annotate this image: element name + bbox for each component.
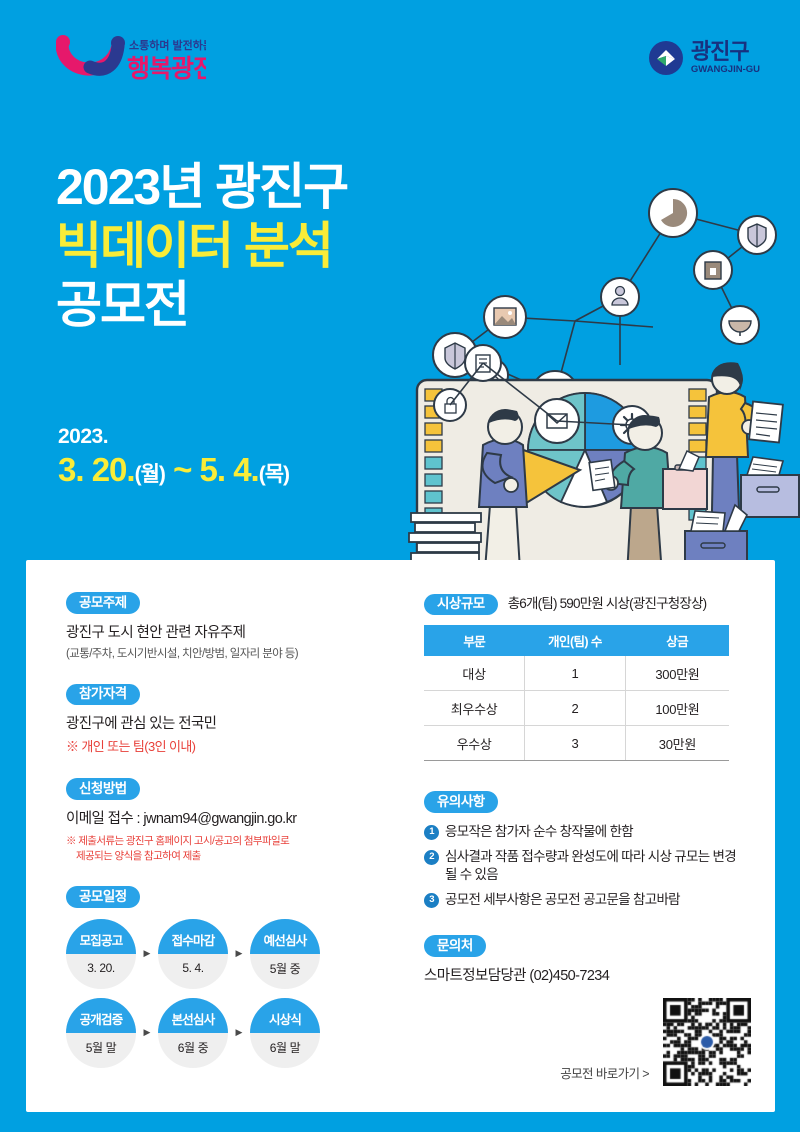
section-apply: 신청방법 이메일 접수 : jwnam94@gwangjin.go.kr ※ 제… bbox=[66, 778, 396, 864]
gwangjin-kr-label: 광진구 bbox=[691, 41, 760, 63]
list-item: 1 응모작은 참가자 순수 창작물에 한함 bbox=[424, 823, 744, 841]
schedule-grid: 모집공고 3. 20. ▶ 접수마감 5. 4. ▶ 예선심사 5월 중 bbox=[66, 919, 396, 1068]
topic-sub: (교통/주차, 도시기반시설, 치안/방범, 일자리 분야 등) bbox=[66, 646, 396, 662]
node-pie-chart-icon bbox=[649, 189, 697, 237]
section-eligibility: 참가자격 광진구에 관심 있는 전국민 ※ 개인 또는 팀(3인 이내) bbox=[66, 684, 396, 757]
poster-title: 2023년 광진구 빅데이터 분석 공모전 bbox=[56, 158, 347, 335]
table-row: 우수상 3 30만원 bbox=[424, 726, 729, 761]
eligibility-badge: 참가자격 bbox=[66, 684, 140, 706]
schedule-step-2-name: 접수마감 bbox=[158, 919, 228, 954]
note-text-1: 응모작은 참가자 순수 창작물에 한함 bbox=[445, 823, 633, 841]
schedule-step-1-when: 3. 20. bbox=[66, 954, 136, 989]
note-number-icon-1: 1 bbox=[424, 825, 439, 840]
title-line-1: 2023년 광진구 bbox=[56, 158, 347, 217]
apply-note-2: 제공되는 양식을 참고하여 제출 bbox=[66, 849, 396, 864]
schedule-step-5-name: 본선심사 bbox=[158, 998, 228, 1033]
poster-header: 소통하며 발전하는 행복광진 광진구 GWANGJIN-GU bbox=[0, 0, 800, 112]
date-tilde: ~ bbox=[173, 451, 191, 488]
schedule-row-2: 공개검증 5월 말 ▶ 본선심사 6월 중 ▶ 시상식 6월 말 bbox=[66, 998, 396, 1068]
table-row: 최우수상 2 100만원 bbox=[424, 691, 729, 726]
schedule-step-1: 모집공고 3. 20. bbox=[66, 919, 136, 989]
prize-row-2-category: 최우수상 bbox=[424, 691, 525, 726]
schedule-step-3-name: 예선심사 bbox=[250, 919, 320, 954]
prize-row-2-count: 2 bbox=[525, 691, 626, 726]
schedule-row-1: 모집공고 3. 20. ▶ 접수마감 5. 4. ▶ 예선심사 5월 중 bbox=[66, 919, 396, 989]
prize-row-3-amount: 30만원 bbox=[625, 726, 729, 761]
prize-summary: 총6개(팀) 590만원 시상(광진구청장상) bbox=[508, 592, 707, 612]
schedule-step-5: 본선심사 6월 중 bbox=[158, 998, 228, 1068]
date-year: 2023. bbox=[58, 425, 289, 449]
prize-badge: 시상규모 bbox=[424, 594, 498, 616]
prize-table: 부문 개인(팀) 수 상금 대상 1 300만원 최우수상 2 100만원 bbox=[424, 625, 729, 761]
schedule-step-5-when: 6월 중 bbox=[158, 1033, 228, 1068]
qr-label: 공모전 바로가기 > bbox=[560, 1063, 649, 1086]
gwangjin-en-label: GWANGJIN-GU bbox=[691, 65, 760, 75]
node-cctv-icon bbox=[721, 306, 759, 344]
prize-row-1-count: 1 bbox=[525, 656, 626, 691]
schedule-arrow-icon-2: ▶ bbox=[228, 948, 250, 959]
poster-dates: 2023. 3. 20.(월) ~ 5. 4.(목) bbox=[58, 425, 289, 489]
date-range: 3. 20.(월) ~ 5. 4.(목) bbox=[58, 451, 289, 489]
prize-row-1-amount: 300만원 bbox=[625, 656, 729, 691]
schedule-step-2: 접수마감 5. 4. bbox=[158, 919, 228, 989]
brand-tagline: 소통하며 발전하는 bbox=[129, 38, 206, 52]
schedule-step-3: 예선심사 5월 중 bbox=[250, 919, 320, 989]
qr-code-image[interactable] bbox=[663, 998, 751, 1086]
eligibility-line: 광진구에 관심 있는 전국민 bbox=[66, 714, 396, 735]
storage-box-top bbox=[741, 457, 799, 517]
panel-right-column: 시상규모 총6개(팀) 590만원 시상(광진구청장상) 부문 개인(팀) 수 … bbox=[424, 592, 744, 1009]
schedule-badge: 공모일정 bbox=[66, 886, 140, 908]
schedule-step-6-when: 6월 말 bbox=[250, 1033, 320, 1068]
date-end: 5. 4. bbox=[200, 451, 259, 488]
gwangjin-gu-logo: 광진구 GWANGJIN-GU bbox=[649, 38, 760, 78]
note-number-icon-2: 2 bbox=[424, 850, 439, 865]
note-text-2: 심사결과 작품 접수량과 완성도에 따라 시상 규모는 변경될 수 있음 bbox=[445, 848, 744, 884]
apply-line: 이메일 접수 : jwnam94@gwangjin.go.kr bbox=[66, 809, 396, 830]
panel-left-column: 공모주제 광진구 도시 현안 관련 자유주제 (교통/주차, 도시기반시설, 치… bbox=[66, 592, 396, 1090]
info-panel: 공모주제 광진구 도시 현안 관련 자유주제 (교통/주차, 도시기반시설, 치… bbox=[26, 560, 775, 1112]
happy-gwangjin-logo: 소통하며 발전하는 행복광진 bbox=[56, 30, 206, 88]
schedule-arrow-icon-3: ▶ bbox=[136, 1027, 158, 1038]
section-contact: 문의처 스마트정보담당관 (02)450-7234 bbox=[424, 935, 744, 987]
notes-list: 1 응모작은 참가자 순수 창작물에 한함 2 심사결과 작품 접수량과 완성도… bbox=[424, 823, 744, 910]
eligibility-note: ※ 개인 또는 팀(3인 이내) bbox=[66, 738, 396, 756]
node-shield-icon-top bbox=[738, 216, 776, 254]
node-secure-file-icon bbox=[694, 251, 732, 289]
title-line-2: 빅데이터 분석 bbox=[56, 217, 347, 276]
schedule-step-4: 공개검증 5월 말 bbox=[66, 998, 136, 1068]
note-number-icon-3: 3 bbox=[424, 893, 439, 908]
schedule-step-1-name: 모집공고 bbox=[66, 919, 136, 954]
schedule-arrow-icon-1: ▶ bbox=[136, 948, 158, 959]
prize-row-2-amount: 100만원 bbox=[625, 691, 729, 726]
topic-line: 광진구 도시 현안 관련 자유주제 bbox=[66, 623, 396, 644]
book-stack bbox=[409, 513, 481, 562]
date-start: 3. 20. bbox=[58, 451, 135, 488]
schedule-arrow-icon-4: ▶ bbox=[228, 1027, 250, 1038]
prize-table-header-row: 부문 개인(팀) 수 상금 bbox=[424, 625, 729, 656]
apply-note-1: ※ 제출서류는 광진구 홈페이지 고시/공고의 첨부파일로 bbox=[66, 835, 289, 847]
data-analysis-illustration bbox=[395, 175, 800, 595]
section-topic: 공모주제 광진구 도시 현안 관련 자유주제 (교통/주차, 도시기반시설, 치… bbox=[66, 592, 396, 662]
prize-row-3-category: 우수상 bbox=[424, 726, 525, 761]
schedule-step-6-name: 시상식 bbox=[250, 998, 320, 1033]
node-image-icon bbox=[484, 296, 526, 338]
schedule-step-4-when: 5월 말 bbox=[66, 1033, 136, 1068]
topic-badge: 공모주제 bbox=[66, 592, 140, 614]
section-schedule: 공모일정 모집공고 3. 20. ▶ 접수마감 5. 4. ▶ 예선심사 bbox=[66, 886, 396, 1068]
prize-row-3-count: 3 bbox=[525, 726, 626, 761]
note-text-3: 공모전 세부사항은 공모전 공고문을 참고바람 bbox=[445, 891, 680, 909]
list-item: 2 심사결과 작품 접수량과 완성도에 따라 시상 규모는 변경될 수 있음 bbox=[424, 848, 744, 884]
prize-col-amount: 상금 bbox=[625, 625, 729, 656]
table-row: 대상 1 300만원 bbox=[424, 656, 729, 691]
date-start-day: (월) bbox=[135, 463, 165, 486]
contact-line: 스마트정보담당관 (02)450-7234 bbox=[424, 966, 744, 987]
schedule-step-2-when: 5. 4. bbox=[158, 954, 228, 989]
apply-notes: ※ 제출서류는 광진구 홈페이지 고시/공고의 첨부파일로 제공되는 양식을 참… bbox=[66, 834, 396, 864]
schedule-step-4-name: 공개검증 bbox=[66, 998, 136, 1033]
schedule-step-3-when: 5월 중 bbox=[250, 954, 320, 989]
qr-section[interactable]: 공모전 바로가기 > bbox=[560, 998, 751, 1086]
section-prize: 시상규모 총6개(팀) 590만원 시상(광진구청장상) 부문 개인(팀) 수 … bbox=[424, 592, 744, 761]
apply-badge: 신청방법 bbox=[66, 778, 140, 800]
prize-col-category: 부문 bbox=[424, 625, 525, 656]
contact-badge: 문의처 bbox=[424, 935, 486, 957]
brand-name: 행복광진 bbox=[127, 55, 206, 83]
list-item: 3 공모전 세부사항은 공모전 공고문을 참고바람 bbox=[424, 891, 744, 909]
section-notes: 유의사항 1 응모작은 참가자 순수 창작물에 한함 2 심사결과 작품 접수량… bbox=[424, 791, 744, 909]
prize-col-count: 개인(팀) 수 bbox=[525, 625, 626, 656]
node-user-icon-top bbox=[601, 278, 639, 316]
gwangjin-emblem-icon bbox=[649, 41, 683, 75]
title-line-3: 공모전 bbox=[56, 276, 347, 335]
prize-header-row: 시상규모 총6개(팀) 590만원 시상(광진구청장상) bbox=[424, 592, 744, 615]
notes-badge: 유의사항 bbox=[424, 791, 498, 813]
schedule-step-6: 시상식 6월 말 bbox=[250, 998, 320, 1068]
prize-row-1-category: 대상 bbox=[424, 656, 525, 691]
date-end-day: (목) bbox=[259, 463, 289, 486]
